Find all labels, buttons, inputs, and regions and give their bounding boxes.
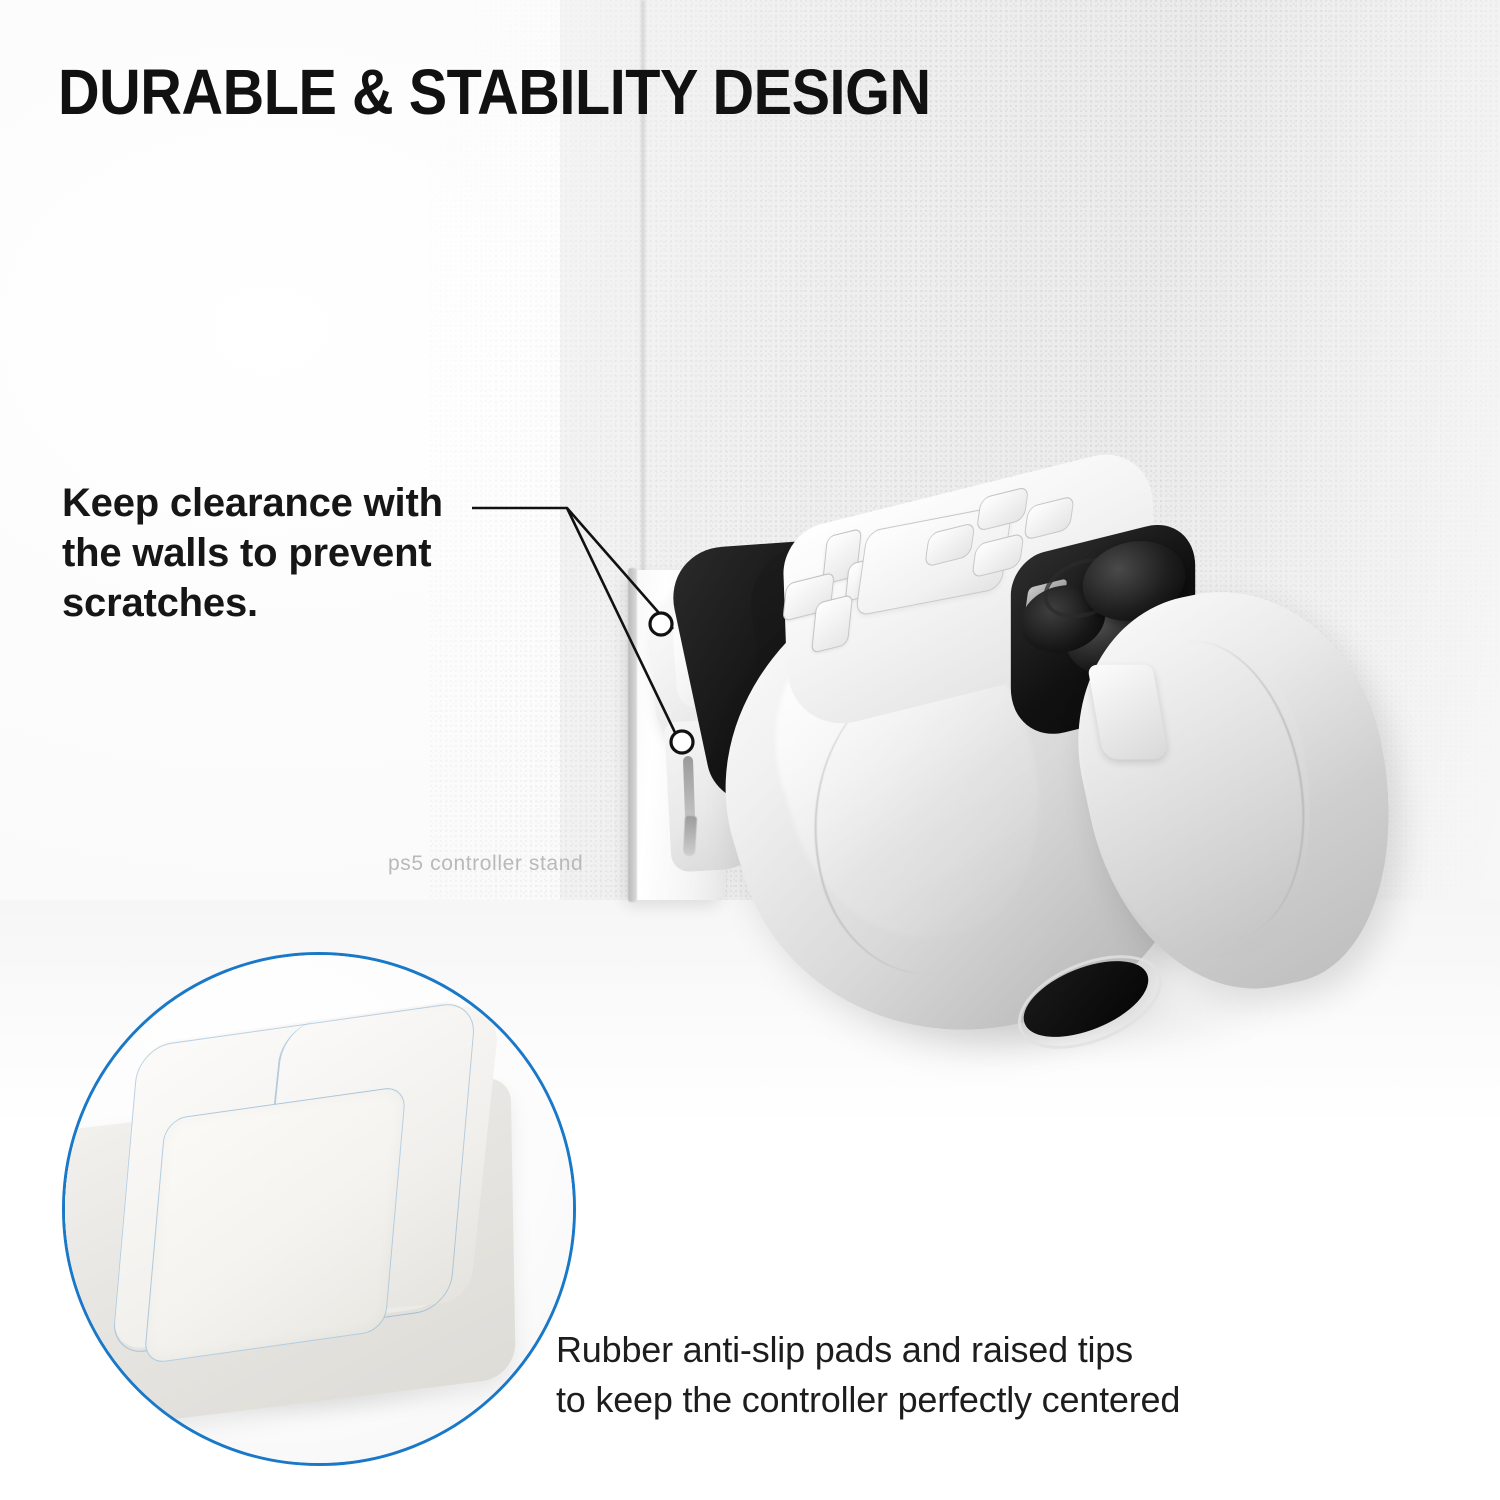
face-button-4 <box>1023 495 1074 541</box>
feature-caption-line-1: Rubber anti-slip pads and raised tips <box>556 1325 1316 1375</box>
product-feature-image: DURABLE & STABILITY DESIGN <box>0 0 1500 1500</box>
feature-caption-line-2: to keep the controller perfectly centere… <box>556 1375 1316 1425</box>
rubber-pad-inset-photo <box>62 952 576 1466</box>
face-button-2 <box>976 486 1029 532</box>
game-controller <box>690 480 1430 1100</box>
clearance-callout-text: Keep clearance with the walls to prevent… <box>62 478 492 628</box>
rubber-anti-slip-pad <box>143 1085 406 1364</box>
watermark-text: ps5 controller stand <box>388 852 583 876</box>
feature-caption: Rubber anti-slip pads and raised tips to… <box>556 1325 1316 1425</box>
face-button-1 <box>924 522 975 568</box>
mount-plate-edge <box>628 568 637 902</box>
page-title: DURABLE & STABILITY DESIGN <box>58 55 931 129</box>
